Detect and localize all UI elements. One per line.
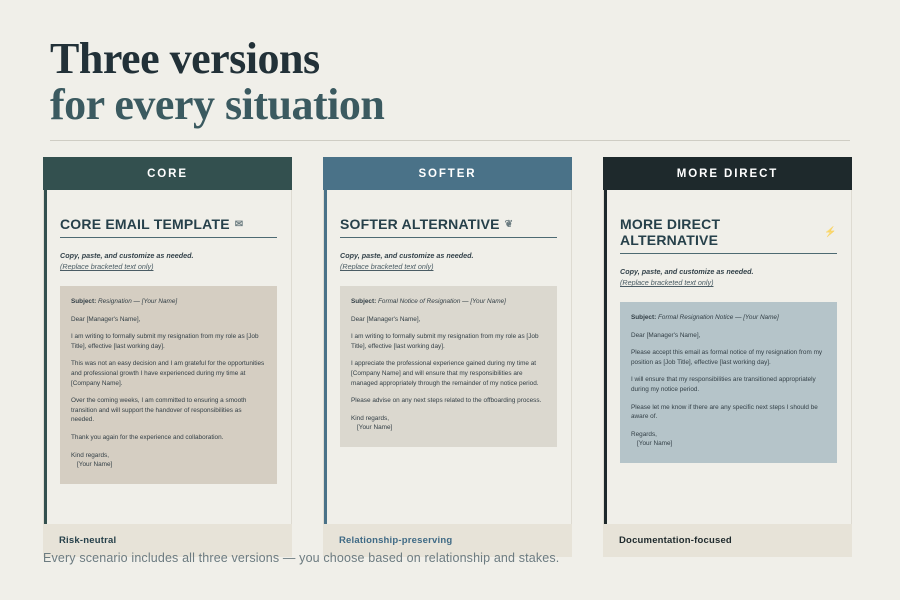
email-paragraph: Dear [Manager's Name],: [351, 315, 546, 325]
email-paragraph: Please let me know if there are any spec…: [631, 403, 826, 422]
card-instruction-core: Copy, paste, and customize as needed.(Re…: [60, 250, 277, 272]
title-divider: [50, 140, 850, 141]
email-paragraph: I appreciate the professional experience…: [351, 359, 546, 388]
email-paragraph: Please accept this email as formal notic…: [631, 348, 826, 367]
email-paragraph: I am writing to formally submit my resig…: [351, 332, 546, 351]
email-subject-label-softer: Subject:: [351, 298, 376, 305]
email-subject-label-core: Subject:: [71, 298, 96, 305]
email-paragraph: Dear [Manager's Name],: [631, 331, 826, 341]
card-instruction-softer: Copy, paste, and customize as needed.(Re…: [340, 250, 557, 272]
email-paragraph: I will ensure that my responsibilities a…: [631, 375, 826, 394]
signature-placeholder-core: [Your Name]: [71, 460, 266, 470]
card-footer-label-more-direct: Documentation-focused: [603, 524, 852, 557]
card-header-softer: SOFTER: [323, 157, 572, 190]
instruction-main-softer: Copy, paste, and customize as needed.: [340, 251, 474, 260]
email-subject-softer: Subject: Formal Notice of Resignation — …: [351, 297, 546, 307]
email-subject-core: Subject: Resignation — [Your Name]: [71, 297, 266, 307]
email-paragraph: I am writing to formally submit my resig…: [71, 332, 266, 351]
email-signoff-more-direct: Regards,[Your Name]: [631, 430, 826, 449]
instruction-sub-more-direct: (Replace bracketed text only): [620, 277, 713, 288]
card-title-softer: Softer Alternative❦: [340, 216, 557, 238]
signature-placeholder-more-direct: [Your Name]: [631, 439, 826, 449]
email-signoff-core: Kind regards,[Your Name]: [71, 451, 266, 470]
page-title-line-2: for every situation: [50, 82, 384, 128]
email-template-block-core[interactable]: Subject: Resignation — [Your Name]Dear […: [60, 286, 277, 484]
version-card-core[interactable]: CORECore Email Template✉Copy, paste, and…: [43, 157, 292, 557]
card-body-softer: Softer Alternative❦Copy, paste, and cust…: [323, 190, 572, 524]
version-card-softer[interactable]: SOFTERSofter Alternative❦Copy, paste, an…: [323, 157, 572, 557]
email-subject-more-direct: Subject: Formal Resignation Notice — [Yo…: [631, 313, 826, 323]
footer-caption: Every scenario includes all three versio…: [43, 551, 559, 565]
card-header-more-direct: MORE DIRECT: [603, 157, 852, 190]
card-title-text-core: Core Email Template: [60, 216, 230, 232]
email-template-block-more-direct[interactable]: Subject: Formal Resignation Notice — [Yo…: [620, 302, 837, 463]
page-title: Three versions for every situation: [50, 36, 384, 128]
email-paragraph: Thank you again for the experience and c…: [71, 433, 266, 443]
email-signoff-softer: Kind regards,[Your Name]: [351, 414, 546, 433]
email-subject-value-core: Resignation — [Your Name]: [98, 298, 177, 305]
email-paragraph: Please advise on any next steps related …: [351, 396, 546, 406]
dove-icon: ❦: [505, 219, 514, 230]
instruction-main-more-direct: Copy, paste, and customize as needed.: [620, 267, 754, 276]
card-body-core: Core Email Template✉Copy, paste, and cus…: [43, 190, 292, 524]
email-subject-value-more-direct: Formal Resignation Notice — [Your Name]: [658, 314, 779, 321]
page-title-line-1: Three versions: [50, 36, 384, 82]
accent-rail-more-direct: [604, 190, 607, 524]
card-title-text-softer: Softer Alternative: [340, 216, 500, 232]
email-paragraph: Over the coming weeks, I am committed to…: [71, 396, 266, 425]
slide-root: Three versions for every situation COREC…: [0, 0, 900, 600]
accent-rail-softer: [324, 190, 327, 524]
accent-rail-core: [44, 190, 47, 524]
instruction-sub-core: (Replace bracketed text only): [60, 261, 153, 272]
email-template-block-softer[interactable]: Subject: Formal Notice of Resignation — …: [340, 286, 557, 447]
signoff-text-more-direct: Regards,: [631, 431, 657, 438]
lightning-bolt-icon: ⚡: [824, 227, 837, 238]
card-instruction-more-direct: Copy, paste, and customize as needed.(Re…: [620, 266, 837, 288]
signature-placeholder-softer: [Your Name]: [351, 423, 546, 433]
email-paragraph: Dear [Manager's Name],: [71, 315, 266, 325]
email-paragraph: This was not an easy decision and I am g…: [71, 359, 266, 388]
version-card-more-direct[interactable]: MORE DIRECTMore Direct Alternative⚡Copy,…: [603, 157, 852, 557]
email-subject-value-softer: Formal Notice of Resignation — [Your Nam…: [378, 298, 506, 305]
card-title-core: Core Email Template✉: [60, 216, 277, 238]
card-body-more-direct: More Direct Alternative⚡Copy, paste, and…: [603, 190, 852, 524]
card-title-more-direct: More Direct Alternative⚡: [620, 216, 837, 254]
email-subject-label-more-direct: Subject:: [631, 314, 656, 321]
instruction-main-core: Copy, paste, and customize as needed.: [60, 251, 194, 260]
cards-row: CORECore Email Template✉Copy, paste, and…: [43, 157, 853, 557]
signoff-text-core: Kind regards,: [71, 452, 109, 459]
envelope-icon: ✉: [235, 219, 244, 230]
instruction-sub-softer: (Replace bracketed text only): [340, 261, 433, 272]
signoff-text-softer: Kind regards,: [351, 415, 389, 422]
card-title-text-more-direct: More Direct Alternative: [620, 216, 819, 248]
card-header-core: CORE: [43, 157, 292, 190]
